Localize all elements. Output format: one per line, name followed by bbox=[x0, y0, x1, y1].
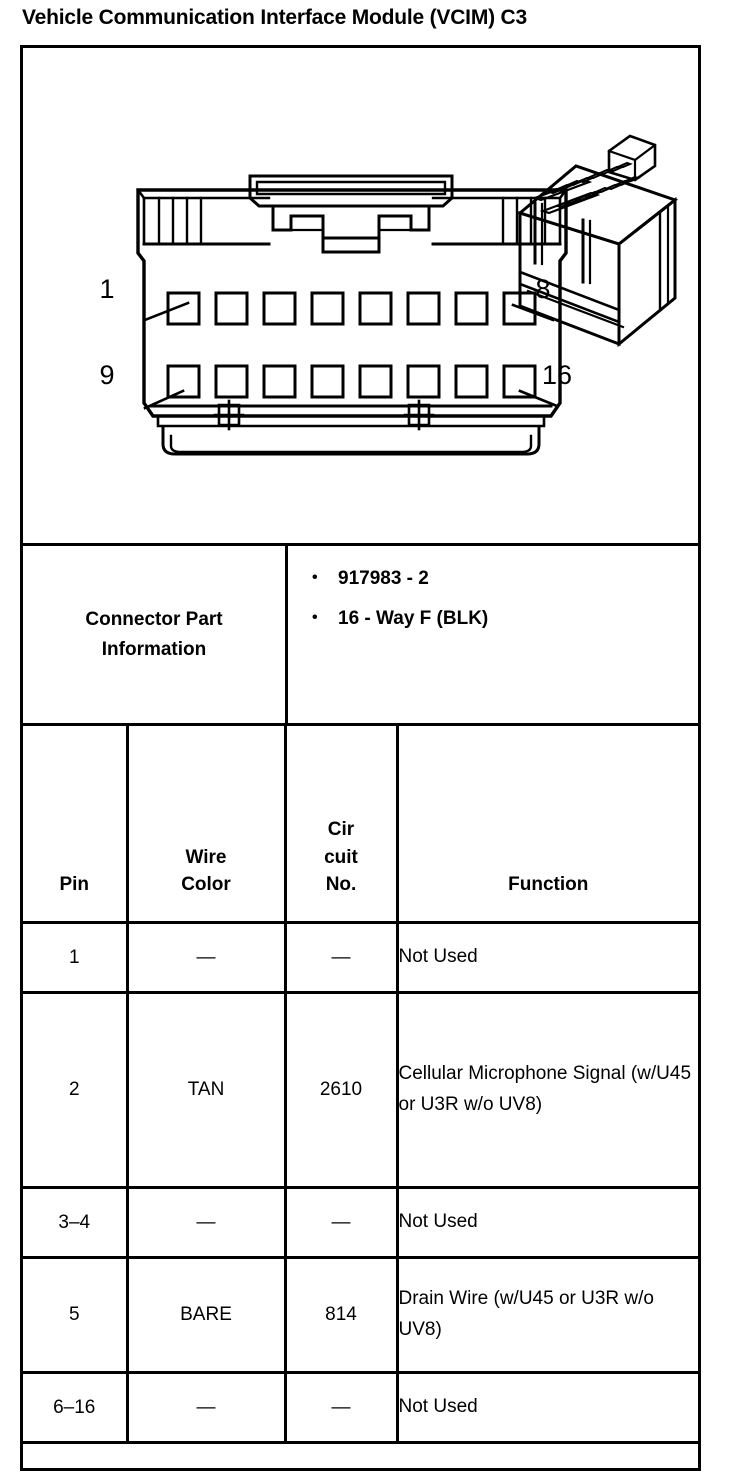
connector-document-page: Vehicle Communication Interface Module (… bbox=[0, 0, 736, 1480]
connector-part-information-values: • 917983 - 2 • 16 - Way F (BLK) bbox=[288, 546, 698, 723]
connector-front-view bbox=[138, 176, 566, 454]
cell-circuit-no: — bbox=[285, 1373, 397, 1443]
column-header-pin: Pin bbox=[23, 725, 127, 923]
cavity-row-bottom bbox=[168, 366, 535, 397]
circuit-no-line-3: No. bbox=[287, 871, 396, 899]
bullet-icon: • bbox=[312, 568, 338, 588]
cell-function: Drain Wire (w/U45 or U3R w/o UV8) bbox=[397, 1258, 698, 1373]
table-row: 6–16 — — Not Used bbox=[23, 1373, 698, 1443]
cell-function: Not Used bbox=[397, 1188, 698, 1258]
column-header-circuit-no: Cir cuit No. bbox=[285, 725, 397, 923]
document-frame: 1 8 9 16 Connector Part Information • 91… bbox=[20, 45, 701, 1471]
cell-wire-color: BARE bbox=[127, 1258, 285, 1373]
cell-pin: 3–4 bbox=[23, 1188, 127, 1258]
column-header-wire-color: Wire Color bbox=[127, 725, 285, 923]
circuit-no-line-2: cuit bbox=[287, 844, 396, 872]
cell-wire-color: TAN bbox=[127, 993, 285, 1188]
callout-label-9: 9 bbox=[99, 360, 114, 390]
cell-circuit-no: — bbox=[285, 923, 397, 993]
way-count-value: 16 - Way F (BLK) bbox=[338, 608, 488, 630]
pin-table-body: 1 — — Not Used 2 TAN 2610 Cellular Micro… bbox=[23, 923, 698, 1443]
table-row: 3–4 — — Not Used bbox=[23, 1188, 698, 1258]
page-title: Vehicle Communication Interface Module (… bbox=[22, 6, 722, 30]
way-count-item: • 16 - Way F (BLK) bbox=[312, 608, 698, 630]
connector-illustration: 1 8 9 16 bbox=[23, 48, 698, 543]
part-number-item: • 917983 - 2 bbox=[312, 568, 698, 590]
cell-function: Not Used bbox=[397, 923, 698, 993]
callout-label-16: 16 bbox=[542, 360, 572, 390]
cell-pin: 5 bbox=[23, 1258, 127, 1373]
cell-circuit-no: — bbox=[285, 1188, 397, 1258]
cavity-row-top bbox=[168, 293, 535, 324]
connector-isometric-view bbox=[520, 136, 675, 344]
table-header-row: Pin Wire Color Cir cuit No. Function bbox=[23, 725, 698, 923]
cell-pin: 6–16 bbox=[23, 1373, 127, 1443]
connector-part-information-label: Connector Part Information bbox=[23, 546, 288, 723]
circuit-no-line-1: Cir bbox=[287, 816, 396, 844]
callout-leaders bbox=[145, 303, 557, 408]
part-number-value: 917983 - 2 bbox=[338, 568, 429, 590]
pin-assignment-table: Pin Wire Color Cir cuit No. Function 1 bbox=[23, 723, 698, 1444]
table-row: 1 — — Not Used bbox=[23, 923, 698, 993]
connector-part-information-row: Connector Part Information • 917983 - 2 … bbox=[23, 543, 698, 723]
table-row: 5 BARE 814 Drain Wire (w/U45 or U3R w/o … bbox=[23, 1258, 698, 1373]
cell-circuit-no: 2610 bbox=[285, 993, 397, 1188]
cell-wire-color: — bbox=[127, 923, 285, 993]
wire-color-line-2: Color bbox=[129, 871, 284, 899]
table-row: 2 TAN 2610 Cellular Microphone Signal (w… bbox=[23, 993, 698, 1188]
cell-wire-color: — bbox=[127, 1373, 285, 1443]
callout-label-8: 8 bbox=[535, 274, 550, 304]
callout-label-1: 1 bbox=[99, 274, 114, 304]
cell-pin: 1 bbox=[23, 923, 127, 993]
cell-function: Not Used bbox=[397, 1373, 698, 1443]
wire-color-line-1: Wire bbox=[129, 844, 284, 872]
cell-pin: 2 bbox=[23, 993, 127, 1188]
cell-circuit-no: 814 bbox=[285, 1258, 397, 1373]
column-header-function: Function bbox=[397, 725, 698, 923]
cell-wire-color: — bbox=[127, 1188, 285, 1258]
cell-function: Cellular Microphone Signal (w/U45 or U3R… bbox=[397, 993, 698, 1188]
bullet-icon: • bbox=[312, 608, 338, 628]
